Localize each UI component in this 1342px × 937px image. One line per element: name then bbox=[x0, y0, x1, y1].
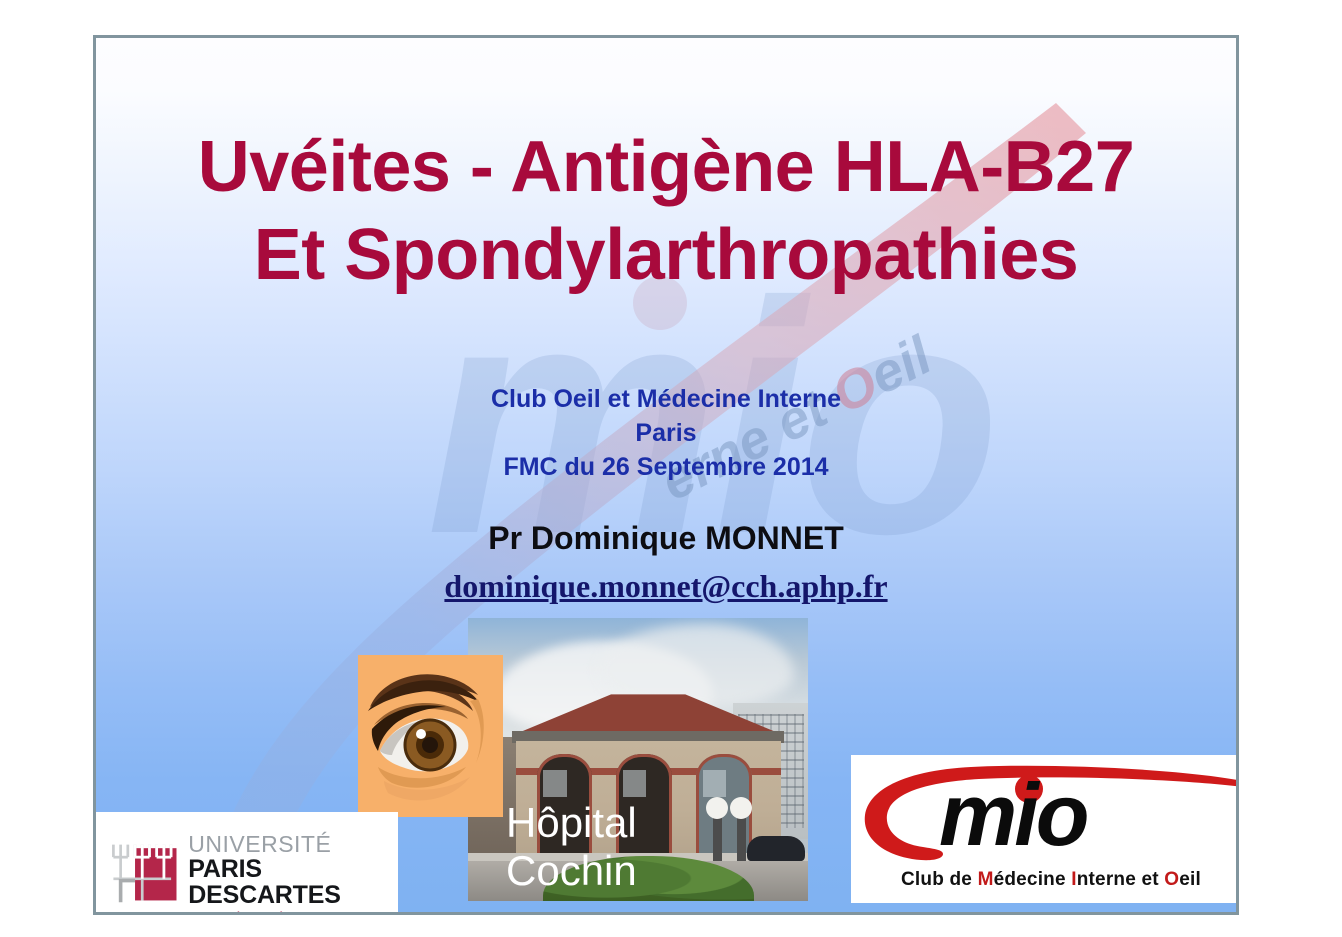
mio-logo: mio Club de Médecine Interne et Oeil bbox=[851, 755, 1239, 903]
event-info: Club Oeil et Médecine Interne Paris FMC … bbox=[96, 382, 1236, 484]
speaker-email-link[interactable]: dominique.monnet@cch.aphp.fr bbox=[444, 564, 887, 608]
speaker-info: Pr Dominique MONNET dominique.monnet@cch… bbox=[96, 516, 1236, 608]
speaker-name: Pr Dominique MONNET bbox=[96, 516, 1236, 560]
photo-caption: Hôpital Cochin bbox=[468, 799, 808, 895]
mio-wordmark: mio bbox=[939, 771, 1086, 859]
photo-window-pane bbox=[543, 770, 566, 797]
mio-tagline-part-1: M bbox=[978, 869, 994, 890]
mio-tagline-part-5: O bbox=[1164, 869, 1179, 890]
slide-canvas: mio erne et Oeil Uvéites - Antigène HLA-… bbox=[0, 0, 1342, 937]
photo-window-pane bbox=[623, 770, 646, 797]
university-logo-line-3: FACULTÉ DE MÉDECINE bbox=[188, 910, 398, 915]
mio-tagline-part-4: nterne et bbox=[1077, 869, 1165, 890]
title-line-2: Et Spondylarthropathies bbox=[96, 211, 1236, 299]
mio-tagline-part-2: édecine bbox=[994, 869, 1072, 890]
university-tree-crest-icon bbox=[108, 830, 178, 906]
event-city: Paris bbox=[96, 416, 1236, 450]
event-session: FMC du 26 Septembre 2014 bbox=[96, 450, 1236, 484]
mio-tagline: Club de Médecine Interne et Oeil bbox=[851, 869, 1239, 891]
university-logo-line-2: PARIS DESCARTES bbox=[188, 856, 398, 908]
photo-caption-line-2: Cochin bbox=[506, 847, 808, 895]
slide-title: Uvéites - Antigène HLA-B27 Et Spondylart… bbox=[96, 123, 1236, 299]
slide-frame: mio erne et Oeil Uvéites - Antigène HLA-… bbox=[93, 35, 1239, 915]
eye-illustration bbox=[358, 655, 503, 817]
event-organization: Club Oeil et Médecine Interne bbox=[96, 382, 1236, 416]
university-paris-descartes-logo: UNIVERSITÉ PARIS DESCARTES FACULTÉ DE MÉ… bbox=[93, 812, 398, 915]
photo-caption-line-1: Hôpital bbox=[506, 799, 808, 847]
title-line-1: Uvéites - Antigène HLA-B27 bbox=[96, 123, 1236, 211]
university-logo-line-1: UNIVERSITÉ bbox=[188, 832, 398, 856]
eye-icon bbox=[358, 655, 503, 817]
mio-tagline-part-6: eil bbox=[1179, 869, 1201, 890]
photo-window-pane bbox=[703, 770, 726, 797]
hospital-cochin-photo: Hôpital Cochin bbox=[468, 618, 808, 901]
mio-tagline-part-0: Club de bbox=[901, 869, 978, 890]
